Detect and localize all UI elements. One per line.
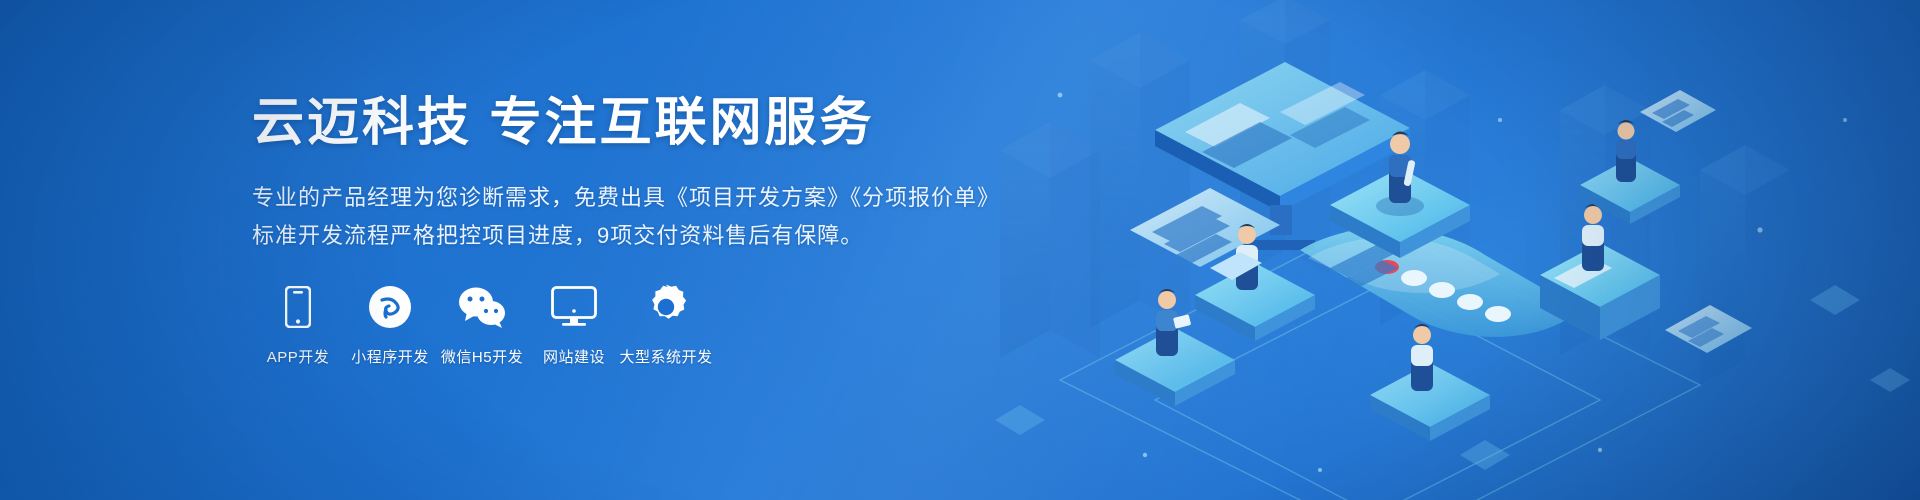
service-item-mini-program[interactable]: 小程序开发 [344, 282, 436, 367]
subtitle-line-2: 标准开发流程严格把控项目进度，9项交付资料售后有保障。 [252, 217, 1132, 255]
wechat-icon [457, 282, 507, 332]
service-label: 网站建设 [543, 346, 605, 367]
mobile-phone-icon [285, 282, 311, 332]
hero-banner: 云迈科技 专注互联网服务 专业的产品经理为您诊断需求，免费出具《项目开发方案》《… [0, 0, 1920, 500]
monitor-icon [551, 282, 597, 332]
hero-copy: 云迈科技 专注互联网服务 专业的产品经理为您诊断需求，免费出具《项目开发方案》《… [252, 96, 1132, 255]
hero-subtitle: 专业的产品经理为您诊断需求，免费出具《项目开发方案》《分项报价单》 标准开发流程… [252, 179, 1132, 255]
service-label: 大型系统开发 [620, 346, 713, 367]
service-list: APP开发 小程序开发 [252, 282, 712, 367]
service-item-large-system[interactable]: 大型系统开发 [620, 282, 712, 367]
service-label: 微信H5开发 [441, 346, 523, 367]
gear-icon [643, 282, 689, 332]
service-label: 小程序开发 [351, 346, 429, 367]
service-item-app[interactable]: APP开发 [252, 282, 344, 367]
mini-program-icon [368, 282, 412, 332]
page-title: 云迈科技 专注互联网服务 [252, 96, 1132, 151]
service-item-wechat-h5[interactable]: 微信H5开发 [436, 282, 528, 367]
subtitle-line-1: 专业的产品经理为您诊断需求，免费出具《项目开发方案》《分项报价单》 [252, 179, 1132, 217]
service-item-website[interactable]: 网站建设 [528, 282, 620, 367]
service-label: APP开发 [267, 346, 330, 367]
